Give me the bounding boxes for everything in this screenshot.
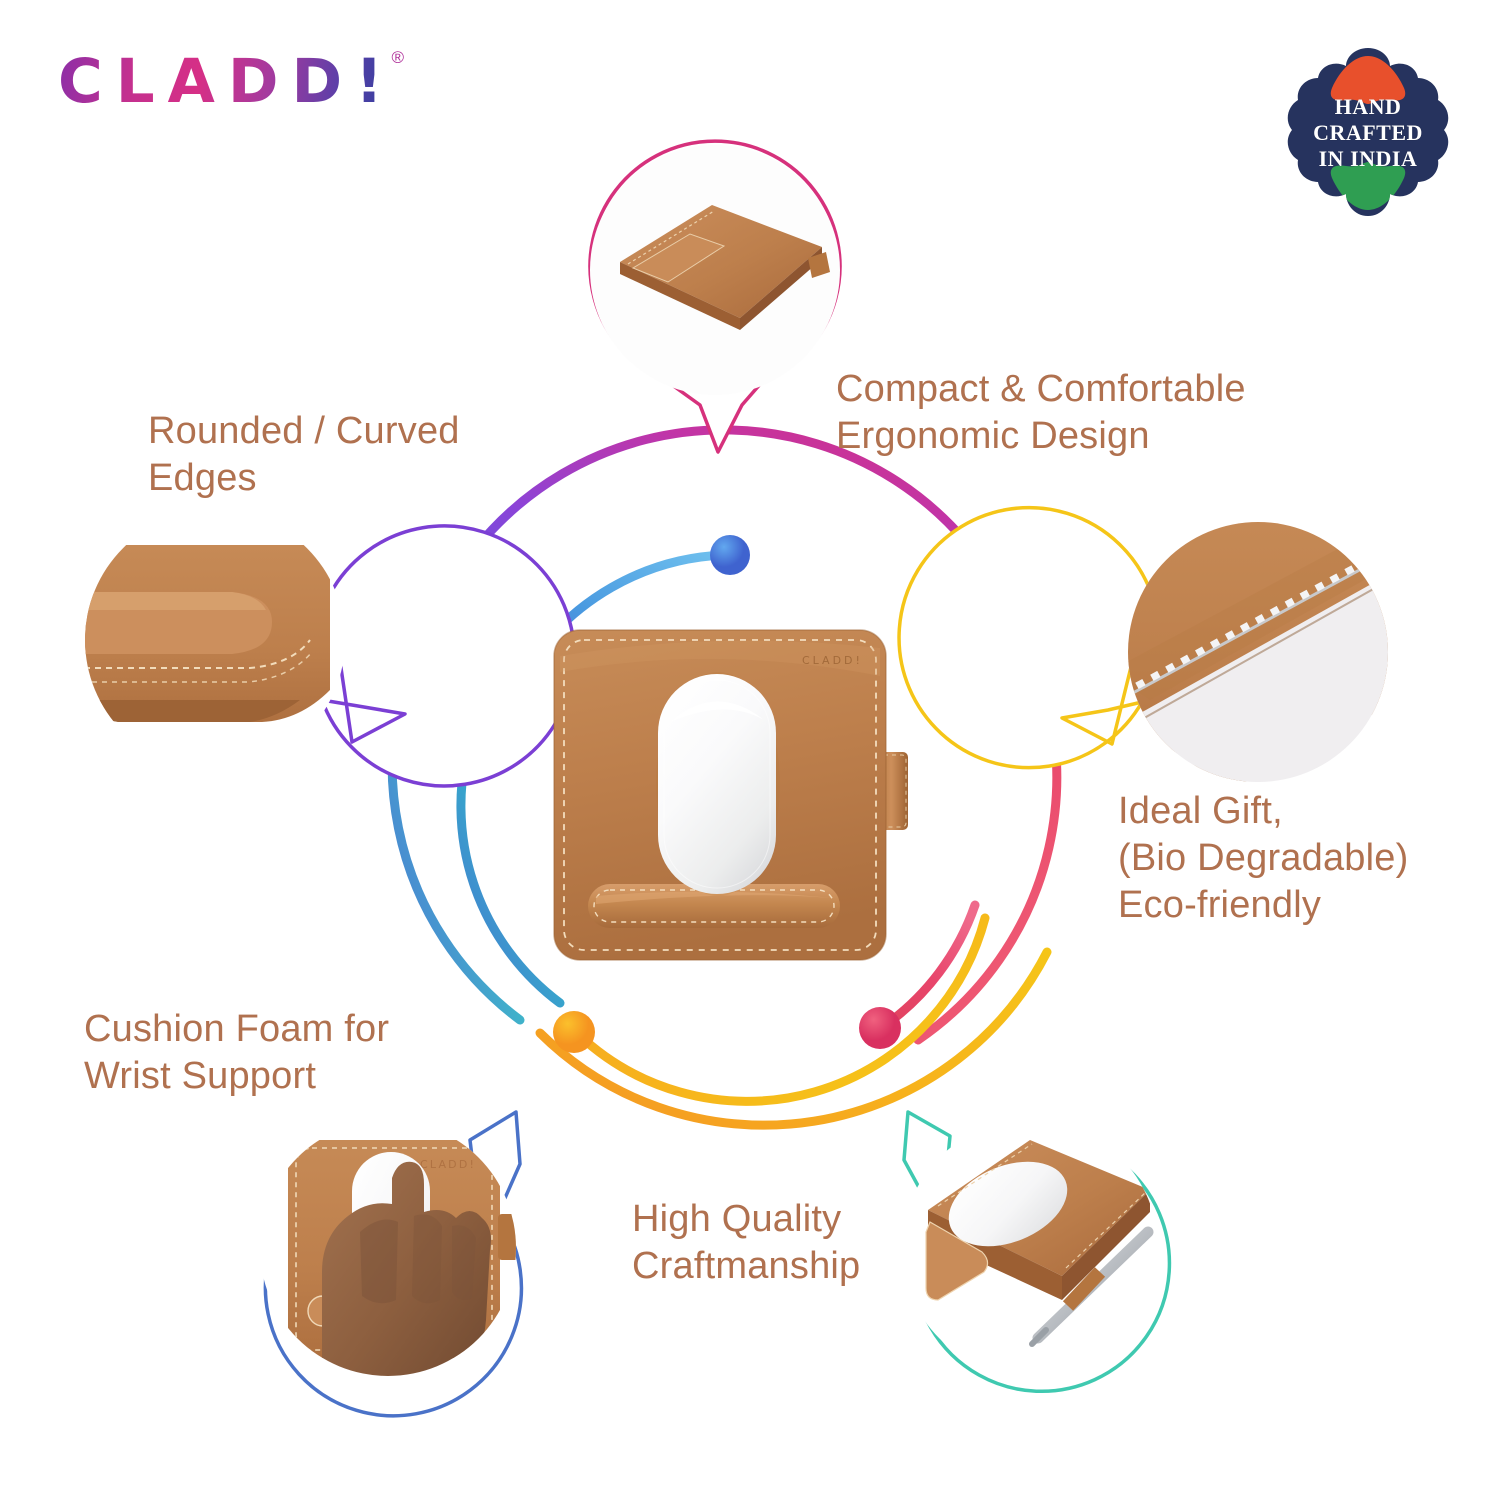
feature-label-high-quality-craftmanship: High Quality Craftmanship <box>632 1196 952 1290</box>
badge-line-3: IN INDIA <box>1278 146 1458 172</box>
svg-text:CLADD!: CLADD! <box>420 1158 476 1171</box>
registered-trademark-icon: ® <box>391 48 404 68</box>
hand-crafted-in-india-badge: HAND CRAFTED IN INDIA <box>1278 44 1458 222</box>
bubble-angled-mousepad <box>590 141 840 452</box>
badge-text-block: HAND CRAFTED IN INDIA <box>1278 94 1458 172</box>
feature-label-cushion-foam-wrist: Cushion Foam for Wrist Support <box>84 1006 474 1100</box>
feature-label-rounded-curved-edges: Rounded / Curved Edges <box>148 408 548 502</box>
infographic-canvas: CLADD! <box>0 0 1500 1500</box>
bubble-stitched-edge-closeup <box>899 508 1410 808</box>
brand-logo: CLADD! ® <box>58 46 398 118</box>
feature-label-ideal-gift-eco: Ideal Gift, (Bio Degradable) Eco-friendl… <box>1118 788 1500 929</box>
center-product-image: CLADD! <box>536 612 936 982</box>
magic-mouse <box>656 672 780 896</box>
bubble-hand-on-mouse: CLADD! <box>258 1112 521 1416</box>
badge-line-1: HAND <box>1278 94 1458 120</box>
feature-label-compact-comfortable: Compact & Comfortable Ergonomic Design <box>836 366 1306 460</box>
brand-wordmark: CLADD! <box>58 46 396 117</box>
badge-line-2: CRAFTED <box>1278 120 1458 146</box>
bubble-rounded-edge-closeup <box>60 505 574 786</box>
embossed-brand-logo: CLADD! <box>802 654 863 667</box>
